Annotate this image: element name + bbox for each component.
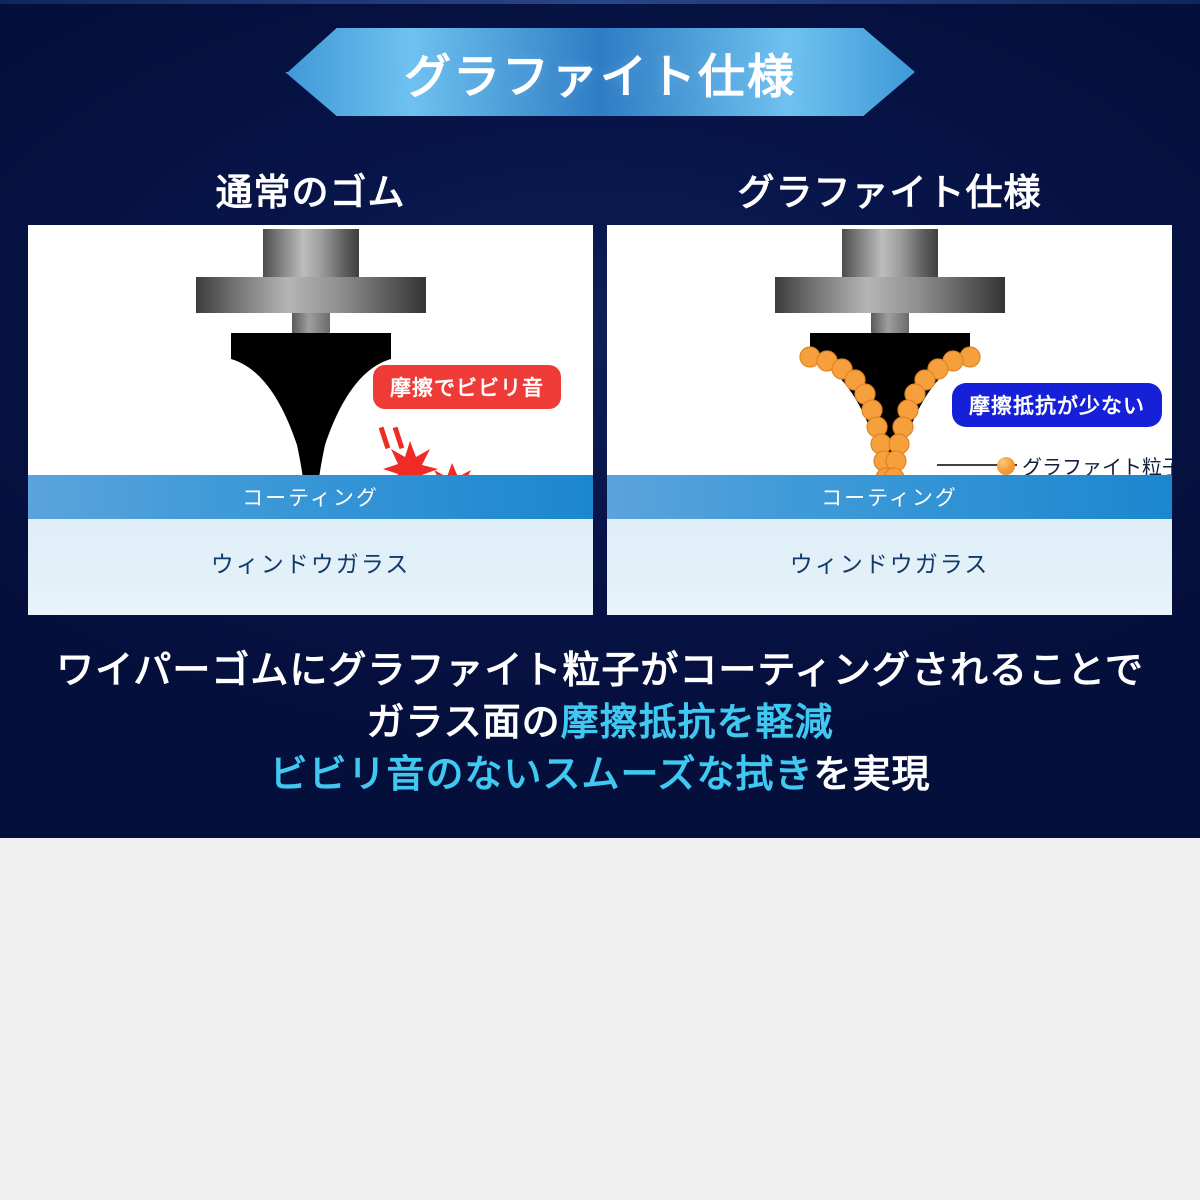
description-line-3-highlight: ビビリ音のないスムーズな拭き bbox=[269, 754, 813, 796]
right-panel-heading: グラファイト仕様 bbox=[607, 162, 1172, 216]
left-panel-heading: 通常のゴム bbox=[28, 162, 593, 216]
description-line-2-pre: ガラス面の bbox=[366, 702, 560, 744]
banner-title-text: グラファイト仕様 bbox=[285, 28, 915, 116]
glass-layer-left: ウィンドウガラス bbox=[28, 519, 593, 615]
holder-stem-icon bbox=[263, 229, 359, 277]
graphite-dot-icon bbox=[997, 457, 1015, 475]
top-dark-section: グラファイト仕様 通常のゴム グラファイト仕様 摩擦抵抗が大きい bbox=[0, 0, 1200, 838]
title-banner: グラファイト仕様 bbox=[285, 28, 915, 116]
coating-layer-left: コーティング bbox=[28, 475, 593, 519]
description-block: ワイパーゴムにグラファイト粒子がコーティングされることで ガラス面の摩擦抵抗を軽… bbox=[0, 645, 1200, 801]
description-line-3: ビビリ音のないスムーズな拭きを実現 bbox=[0, 749, 1200, 801]
wiper-metal-holder-right bbox=[775, 229, 1005, 341]
description-line-2-highlight: 摩擦抵抗を軽減 bbox=[561, 702, 834, 744]
bottom-light-section: グラファイト粒子 グラファイト（黒鉛）と呼ばれる炭素の結晶からなる六角形の層状構… bbox=[0, 838, 1200, 1200]
right-diagram-panel: スムーズな動き 摩擦抵抗が少ない グラファイト粒子 コーティング ウィンドウガラ… bbox=[607, 225, 1172, 615]
noise-pill-badge: 摩擦でビビリ音 bbox=[373, 365, 561, 409]
left-diagram-panel: 摩擦抵抗が大きい 摩擦でビビリ音 コーティング ウィンドウガラス bbox=[28, 225, 593, 615]
description-line-2: ガラス面の摩擦抵抗を軽減 bbox=[0, 697, 1200, 749]
infographic-root: グラファイト仕様 通常のゴム グラファイト仕様 摩擦抵抗が大きい bbox=[0, 0, 1200, 1200]
holder-flange-icon bbox=[775, 277, 1005, 313]
description-line-3-post: を実現 bbox=[814, 754, 931, 796]
wiper-metal-holder-left bbox=[196, 229, 426, 341]
coating-layer-right: コーティング bbox=[607, 475, 1172, 519]
low-friction-pill-badge: 摩擦抵抗が少ない bbox=[952, 383, 1162, 427]
description-line-1: ワイパーゴムにグラファイト粒子がコーティングされることで bbox=[0, 645, 1200, 697]
holder-stem-icon bbox=[842, 229, 938, 277]
glass-layer-right: ウィンドウガラス bbox=[607, 519, 1172, 615]
holder-flange-icon bbox=[196, 277, 426, 313]
